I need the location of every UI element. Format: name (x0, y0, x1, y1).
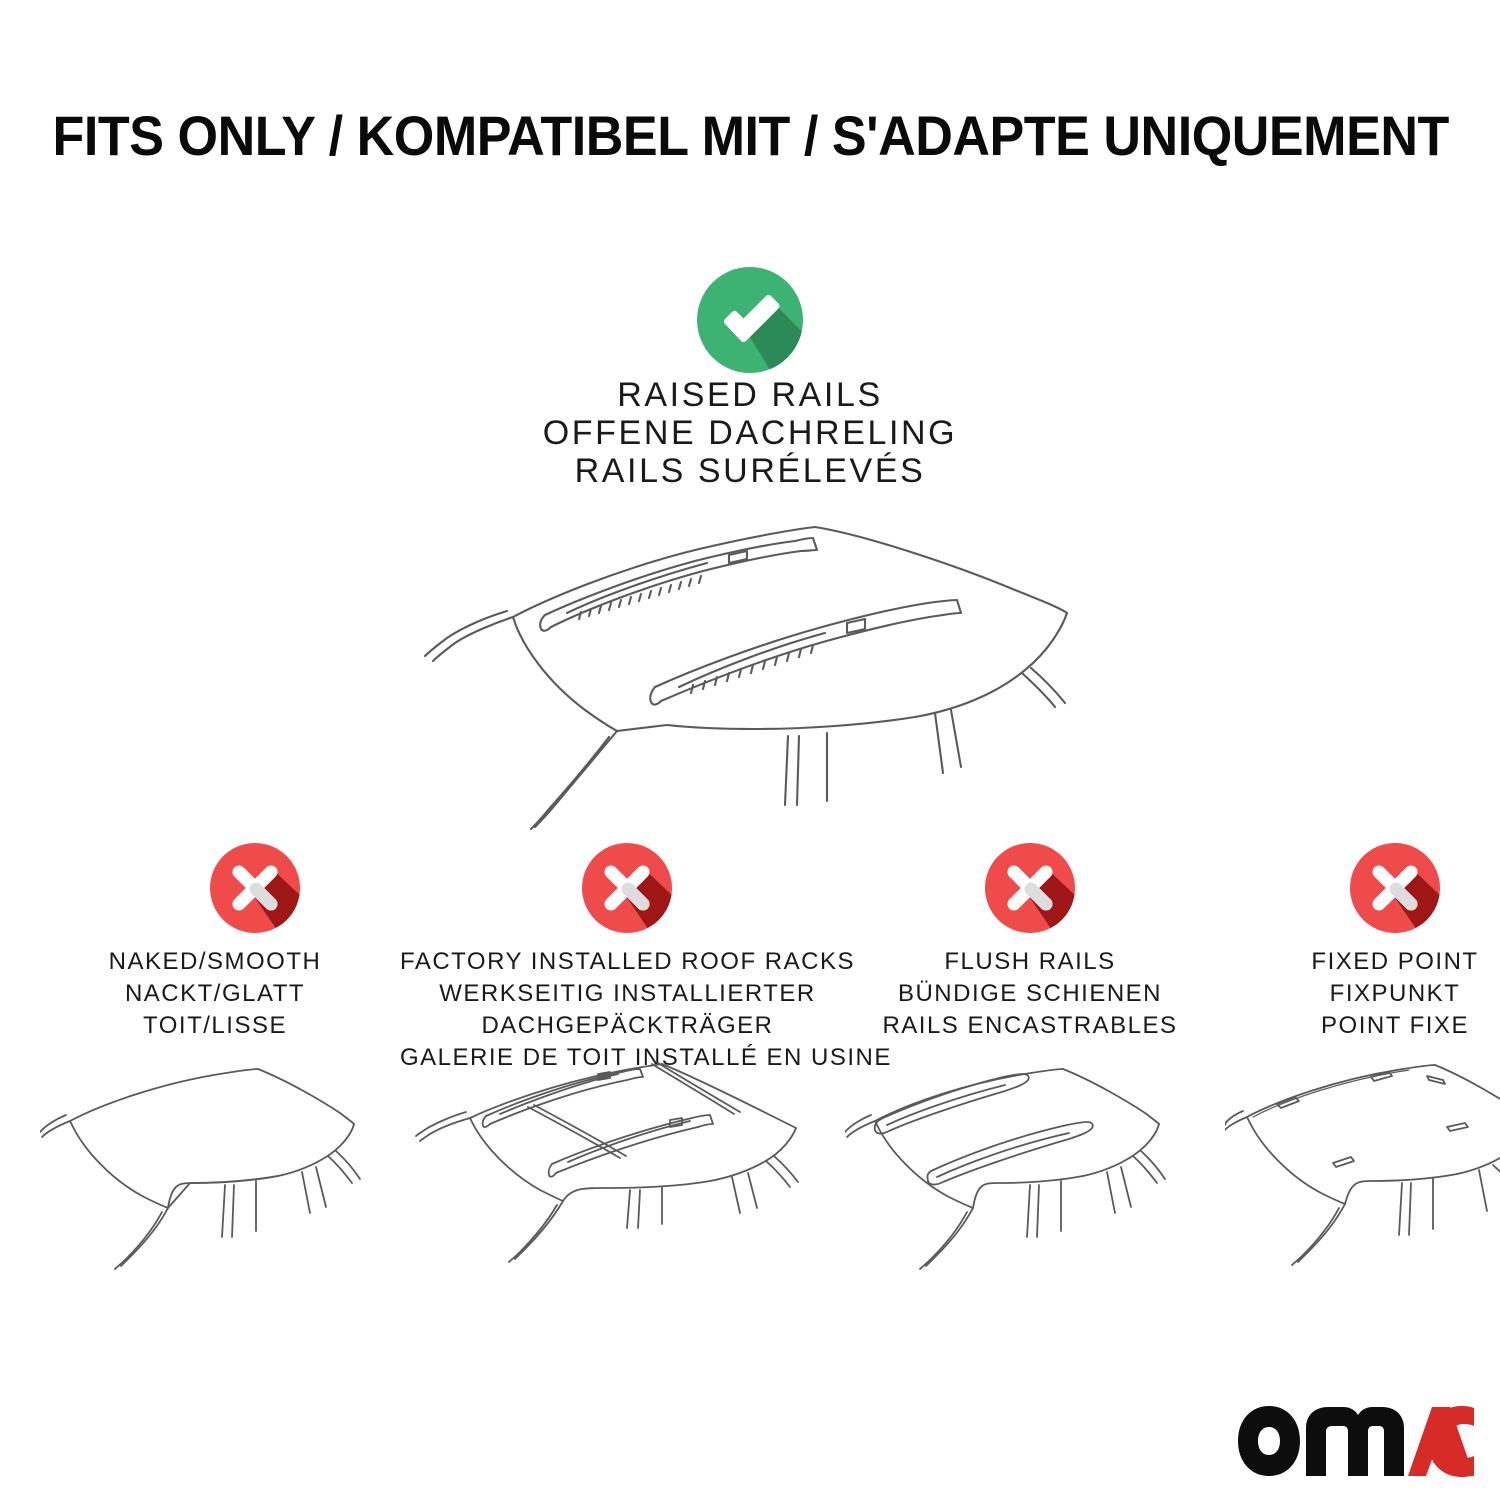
x-circle-icon (1347, 840, 1443, 936)
compatible-line-en: RAISED RAILS (250, 378, 1250, 412)
car-roof-raised-rails-illustration (395, 505, 1105, 835)
caption-naked-smooth: NAKED/SMOOTH NACKT/GLATT TOIT/LISSE (40, 946, 390, 1042)
caption-line-de: FIXPUNKT (1225, 978, 1500, 1010)
compatible-line-de: OFFENE DACHRELING (250, 416, 1250, 450)
caption-line-en: NAKED/SMOOTH (40, 946, 390, 978)
compatible-line-fr: RAILS SURÉLEVÉS (250, 454, 1250, 488)
caption-line-en: FACTORY INSTALLED ROOF RACKS (400, 946, 855, 978)
x-circle-icon (207, 840, 303, 936)
caption-line-de-2: DACHGEPÄCKTRÄGER (400, 1010, 855, 1042)
compatible-caption: RAISED RAILS OFFENE DACHRELING RAILS SUR… (250, 378, 1250, 492)
caption-line-fr: RAILS ENCASTRABLES (845, 1010, 1215, 1042)
omac-logo (1236, 1404, 1474, 1478)
caption-line-en: FIXED POINT (1225, 946, 1500, 978)
caption-line-de: BÜNDIGE SCHIENEN (845, 978, 1215, 1010)
caption-line-fr: TOIT/LISSE (40, 1010, 390, 1042)
header: FITS ONLY / KOMPATIBEL MIT / S'ADAPTE UN… (0, 108, 1500, 164)
car-roof-naked-illustration (40, 1055, 390, 1275)
car-roof-fixed-point-illustration (1225, 1055, 1500, 1275)
x-circle-icon (579, 840, 675, 936)
caption-line-en: FLUSH RAILS (845, 946, 1215, 978)
caption-line-de: NACKT/GLATT (40, 978, 390, 1010)
car-roof-factory-rack-illustration (400, 1048, 855, 1273)
caption-line-de-1: WERKSEITIG INSTALLIERTER (400, 978, 855, 1010)
car-roof-flush-rails-illustration (845, 1055, 1215, 1275)
caption-flush-rails: FLUSH RAILS BÜNDIGE SCHIENEN RAILS ENCAS… (845, 946, 1215, 1042)
caption-line-fr: POINT FIXE (1225, 1010, 1500, 1042)
x-circle-icon (982, 840, 1078, 936)
page-title: FITS ONLY / KOMPATIBEL MIT / S'ADAPTE UN… (53, 108, 1449, 164)
caption-fixed-point: FIXED POINT FIXPUNKT POINT FIXE (1225, 946, 1500, 1042)
check-circle-icon (694, 264, 806, 376)
